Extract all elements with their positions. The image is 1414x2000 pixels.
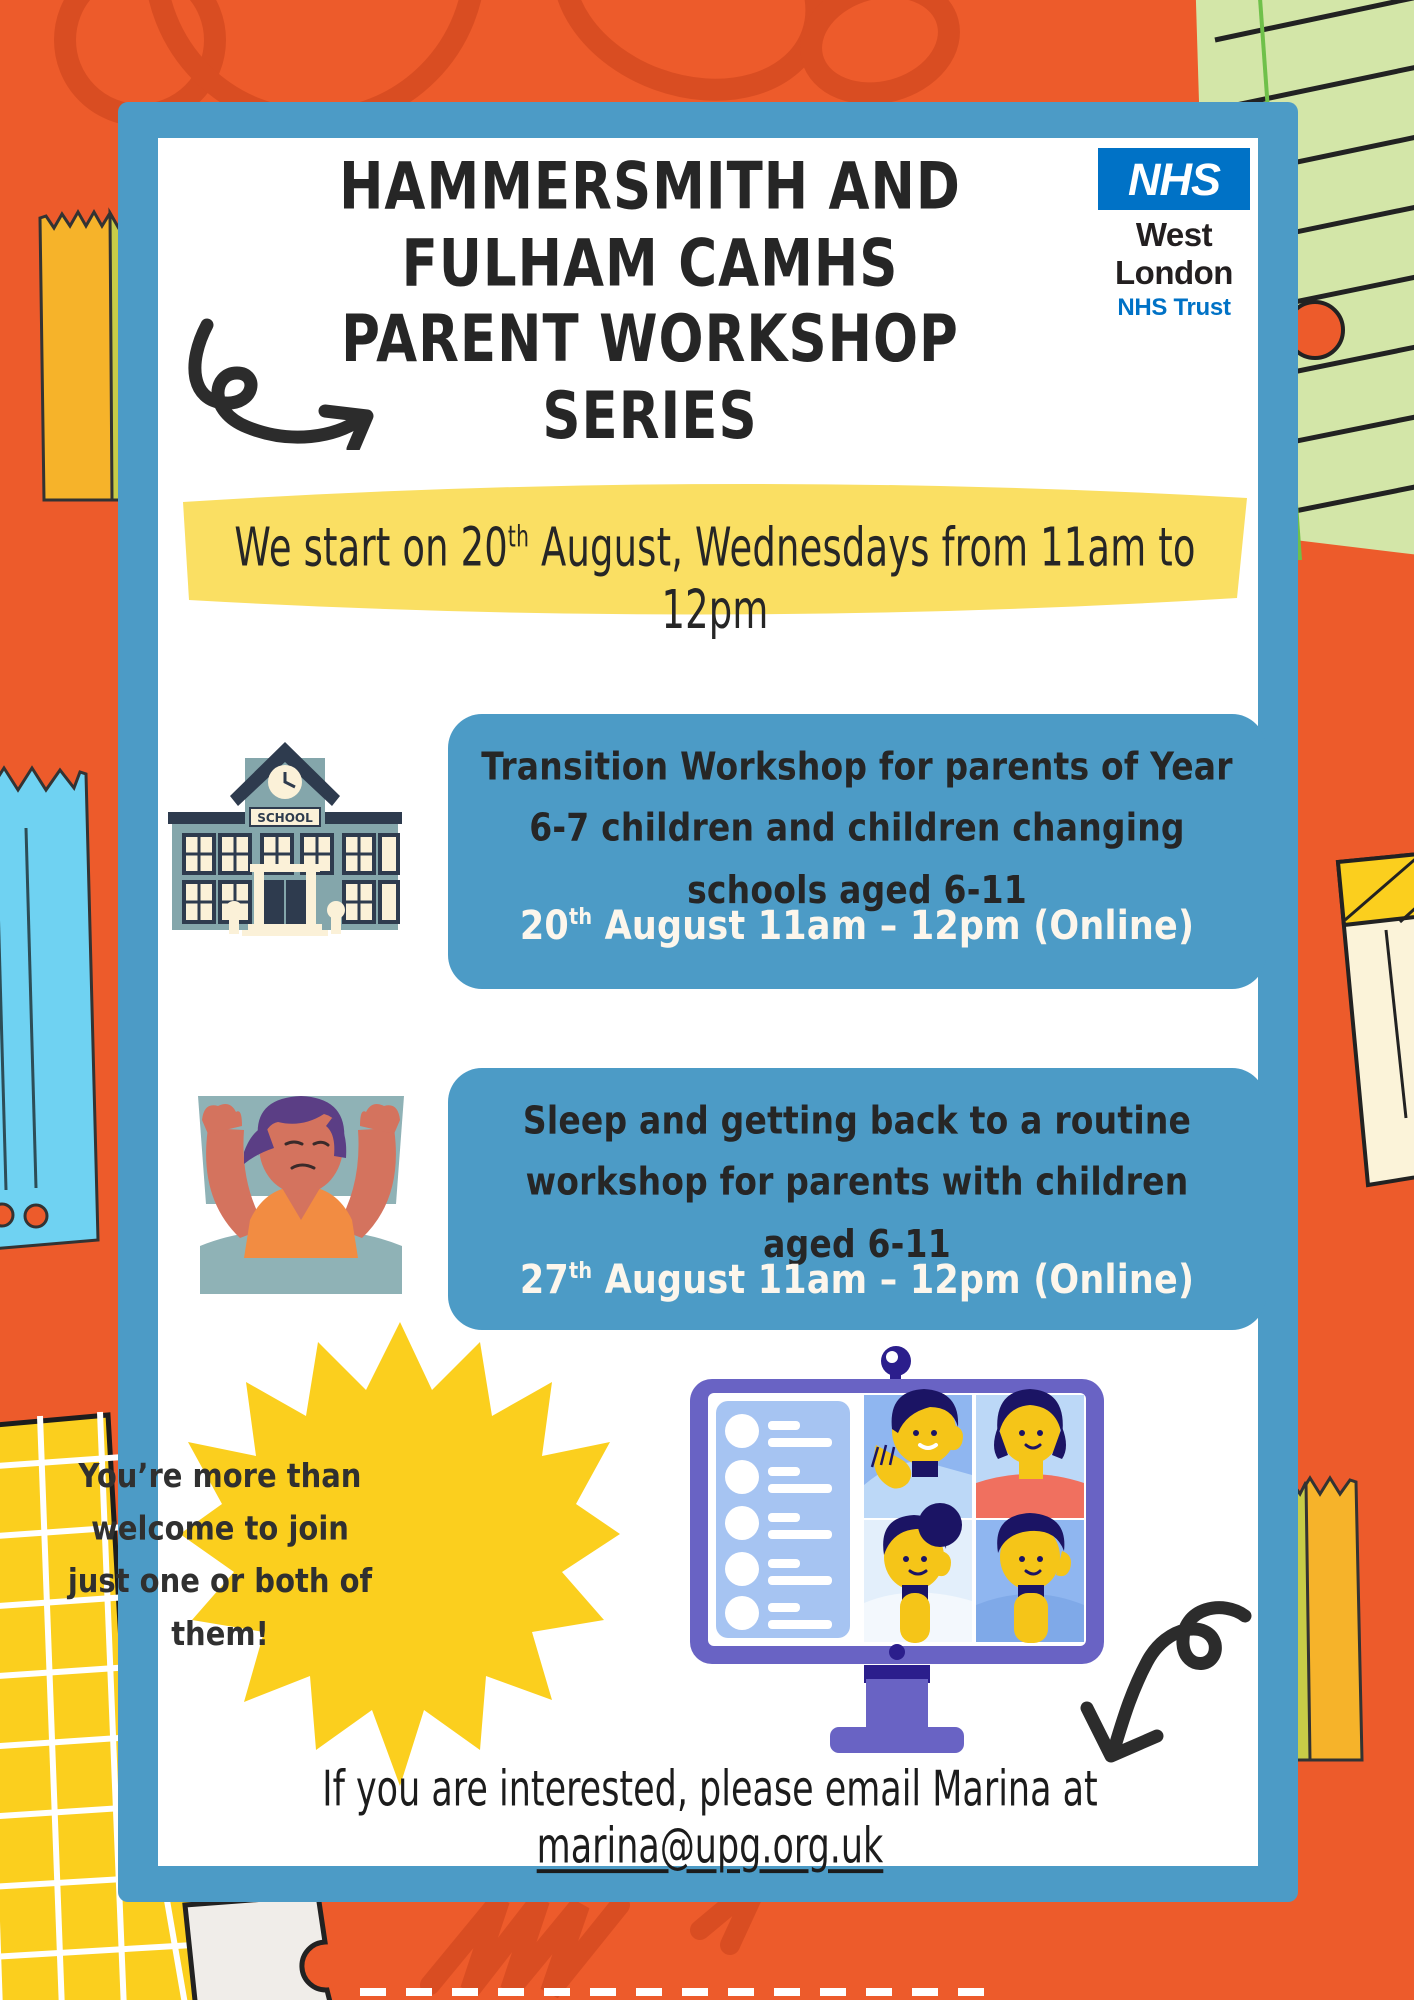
- nhs-badge-text: NHS: [1128, 157, 1220, 202]
- nhs-logo: NHS West London NHS Trust: [1090, 148, 1258, 322]
- starburst-text: You’re more than welcome to join just on…: [60, 1450, 380, 1660]
- workshop-date-suffix: th: [569, 1258, 592, 1284]
- banner-text-before: We start on 20: [234, 516, 508, 578]
- contact-footer: If you are interested, please email Mari…: [222, 1760, 1197, 1874]
- puzzle-piece-decoration: [185, 1895, 332, 2000]
- curly-arrow-icon: [185, 315, 385, 450]
- workshop-datetime: 20th August 11am – 12pm (Online): [478, 902, 1236, 950]
- workshop-description: Sleep and getting back to a routine work…: [478, 1090, 1236, 1274]
- start-date-banner: We start on 20th August, Wednesdays from…: [175, 480, 1255, 620]
- contact-email[interactable]: marina@upg.org.uk: [537, 1817, 884, 1874]
- contact-text: If you are interested, please email Mari…: [322, 1760, 1097, 1817]
- workshop-date-rest: August 11am – 12pm (Online): [592, 1258, 1194, 1304]
- workshop-date-suffix: th: [569, 904, 592, 930]
- nhs-badge: NHS: [1098, 148, 1250, 210]
- workshop-card-transition: Transition Workshop for parents of Year …: [448, 714, 1266, 989]
- nhs-trust-sub: NHS Trust: [1090, 294, 1258, 322]
- start-date-text: We start on 20th August, Wednesdays from…: [229, 516, 1201, 641]
- workshop-datetime: 27th August 11am – 12pm (Online): [478, 1256, 1236, 1304]
- title-line-1: HAMMERSMITH AND: [300, 150, 1000, 226]
- banner-text-after: August, Wednesdays from 11am to 12pm: [529, 516, 1196, 641]
- workshop-date-number: 20: [520, 904, 569, 950]
- title-line-3: PARENT WORKSHOP: [300, 303, 1000, 379]
- person-in-bed-illustration: [182, 1078, 420, 1300]
- svg-text:SCHOOL: SCHOOL: [257, 811, 313, 825]
- blue-torn-strip-decoration: [0, 768, 98, 1250]
- workshop-date-rest: August 11am – 12pm (Online): [592, 904, 1194, 950]
- workshop-date-number: 27: [520, 1258, 569, 1304]
- workshop-description: Transition Workshop for parents of Year …: [478, 736, 1236, 920]
- video-call-monitor-illustration: [672, 1335, 1112, 1765]
- title-line-2: FULHAM CAMHS: [300, 226, 1000, 302]
- curly-arrow-down-icon: [1075, 1600, 1255, 1780]
- page-title: HAMMERSMITH AND FULHAM CAMHS PARENT WORK…: [300, 150, 1000, 455]
- workshop-card-sleep: Sleep and getting back to a routine work…: [448, 1068, 1266, 1330]
- nhs-trust-name: West London: [1090, 216, 1258, 292]
- school-building-illustration: SCHOOL: [150, 740, 420, 955]
- title-line-4: SERIES: [300, 379, 1000, 455]
- banner-ordinal-suffix: th: [508, 520, 529, 554]
